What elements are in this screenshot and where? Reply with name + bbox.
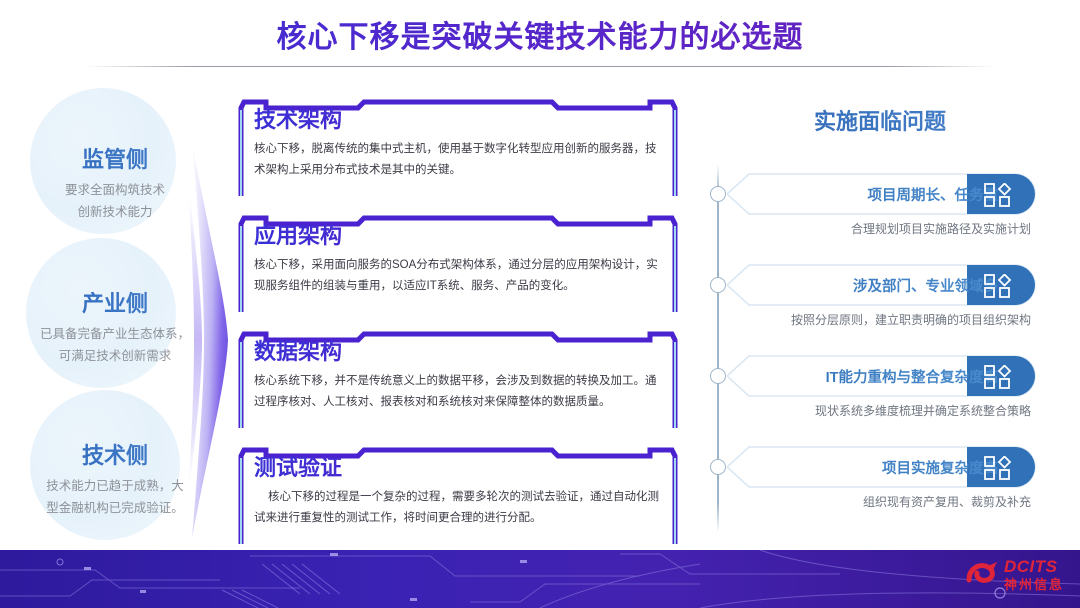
footer-band: DCITS 神州信息 <box>0 550 1080 608</box>
grid-diamond-icon <box>983 183 1023 207</box>
right-panel-title: 实施面临问题 <box>700 104 1060 136</box>
timeline-dot-icon <box>710 368 726 384</box>
timeline-item-sub: 按照分层原则，建立职责明确的项目组织架构 <box>727 311 1037 328</box>
logo-en-text: DCITS <box>1004 558 1064 575</box>
timeline-item-label: 项目实施复杂度高 <box>782 445 998 489</box>
card-application-architecture[interactable]: 应用架构 核心下移，采用面向服务的SOA分布式架构体系，通过分层的应用架构设计，… <box>238 212 678 316</box>
footer-circuit-graphic <box>0 550 1080 608</box>
card-body: 核心下移的过程是一个复杂的过程，需要多轮次的测试去验证，通过自动化测试来进行重复… <box>254 487 664 530</box>
grid-diamond-icon <box>983 274 1023 298</box>
card-heading: 数据架构 <box>254 338 664 366</box>
card-body: 核心下移，脱离传统的集中式主机，使用基于数字化转型应用创新的服务器，技术架构上采… <box>254 139 664 182</box>
logo-cn-text: 神州信息 <box>1004 578 1064 591</box>
timeline-axis <box>717 164 719 532</box>
timeline-dot-icon <box>710 277 726 293</box>
page-title: 核心下移是突破关键技术能力的必选题 <box>0 12 1080 56</box>
card-heading: 测试验证 <box>254 454 664 482</box>
logo-text: DCITS 神州信息 <box>1004 558 1064 591</box>
right-column: 实施面临问题 项目周期长、任务重 合理规划项目实施路径及实施计划 涉及部门、专业… <box>700 104 1060 534</box>
timeline-item-label: IT能力重构与整合复杂度高 <box>726 354 998 398</box>
company-logo: DCITS 神州信息 <box>966 558 1064 591</box>
grid-diamond-icon <box>983 365 1023 389</box>
card-body: 核心下移，采用面向服务的SOA分布式架构体系，通过分层的应用架构设计，实现服务组… <box>254 255 664 298</box>
timeline-item-sub: 组织现有资产复用、裁剪及补充 <box>727 493 1037 510</box>
center-cards: 技术架构 核心下移，脱离传统的集中式主机，使用基于数字化转型应用创新的服务器，技… <box>238 96 678 560</box>
timeline-item-label: 涉及部门、专业领域多 <box>752 263 998 307</box>
timeline-item-sub: 合理规划项目实施路径及实施计划 <box>727 220 1037 237</box>
decorative-ribbon-arrow <box>178 140 234 540</box>
card-heading: 技术架构 <box>254 106 664 134</box>
dcits-swoosh-icon <box>966 560 1000 590</box>
timeline-item-sub: 现状系统多维度梳理并确定系统整合策略 <box>727 402 1037 419</box>
card-data-architecture[interactable]: 数据架构 核心系统下移，并不是传统意义上的数据平移，会涉及到数据的转换及加工。通… <box>238 328 678 432</box>
grid-diamond-icon <box>983 456 1023 480</box>
card-test-verification[interactable]: 测试验证 核心下移的过程是一个复杂的过程，需要多轮次的测试去验证，通过自动化测试… <box>238 444 678 548</box>
card-tech-architecture[interactable]: 技术架构 核心下移，脱离传统的集中式主机，使用基于数字化转型应用创新的服务器，技… <box>238 96 678 200</box>
card-body: 核心系统下移，并不是传统意义上的数据平移，会涉及到数据的转换及加工。通过程序核对… <box>254 371 664 414</box>
timeline-dot-icon <box>710 459 726 475</box>
timeline-dot-icon <box>710 186 726 202</box>
title-divider <box>84 66 996 67</box>
card-heading: 应用架构 <box>254 222 664 250</box>
timeline-item-label: 项目周期长、任务重 <box>767 172 998 216</box>
